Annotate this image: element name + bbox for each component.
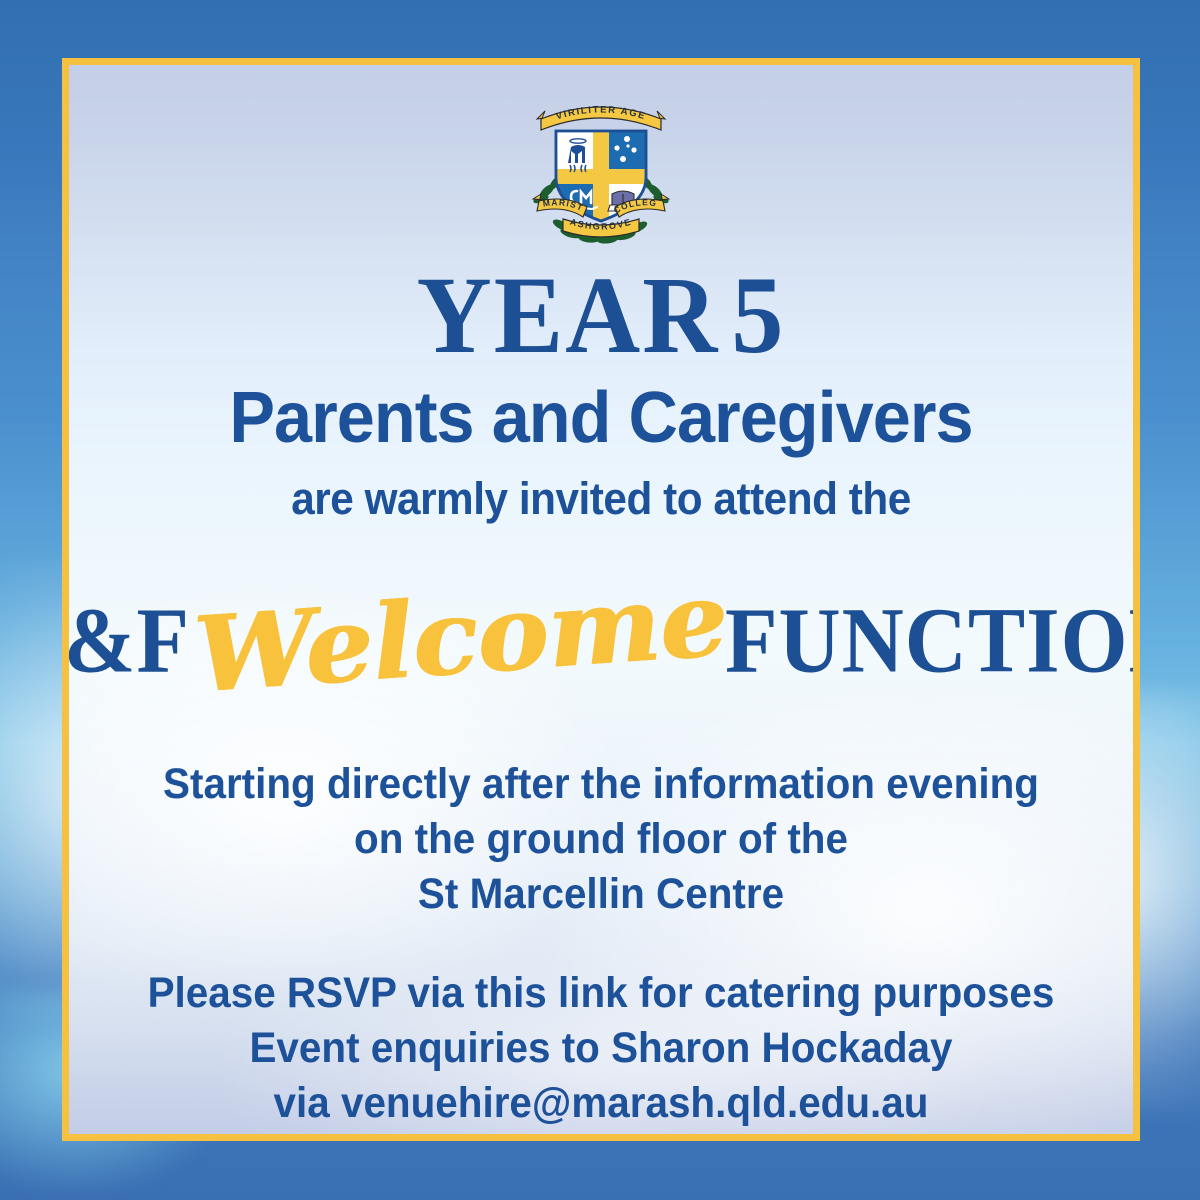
event-details: Starting directly after the information …: [101, 757, 1101, 922]
card-content: VIRILITER AGE: [69, 65, 1133, 1134]
rsvp-email-line[interactable]: via venuehire@marash.qld.edu.au: [101, 1076, 1101, 1131]
year-number: 5: [731, 254, 785, 376]
detail-line-1: Starting directly after the information …: [101, 757, 1101, 812]
crest-container: VIRILITER AGE: [69, 65, 1133, 245]
invitation-poster: VIRILITER AGE: [0, 0, 1200, 1200]
rsvp-block: Please RSVP via this link for catering p…: [101, 966, 1101, 1131]
event-title-script-welcome: Welcome: [192, 566, 731, 707]
invitation-subheading: are warmly invited to attend the: [101, 476, 1101, 521]
rsvp-link-line[interactable]: Please RSVP via this link for catering p…: [101, 966, 1101, 1021]
rsvp-contact-line: Event enquiries to Sharon Hockaday: [101, 1021, 1101, 1076]
year-word: YEAR: [417, 254, 720, 376]
year-heading: YEAR5: [69, 264, 1133, 369]
marist-college-ashgrove-crest-icon: VIRILITER AGE: [511, 95, 691, 245]
event-title-suffix: FUNCTION: [725, 593, 1140, 686]
event-title: P&F Welcome FUNCTION: [69, 581, 1133, 685]
event-title-prefix: P&F: [62, 593, 190, 686]
audience-heading: Parents and Caregivers: [96, 382, 1107, 454]
gold-framed-card: VIRILITER AGE: [62, 58, 1140, 1141]
detail-line-3-venue: St Marcellin Centre: [101, 867, 1101, 922]
detail-line-2: on the ground floor of the: [101, 812, 1101, 867]
